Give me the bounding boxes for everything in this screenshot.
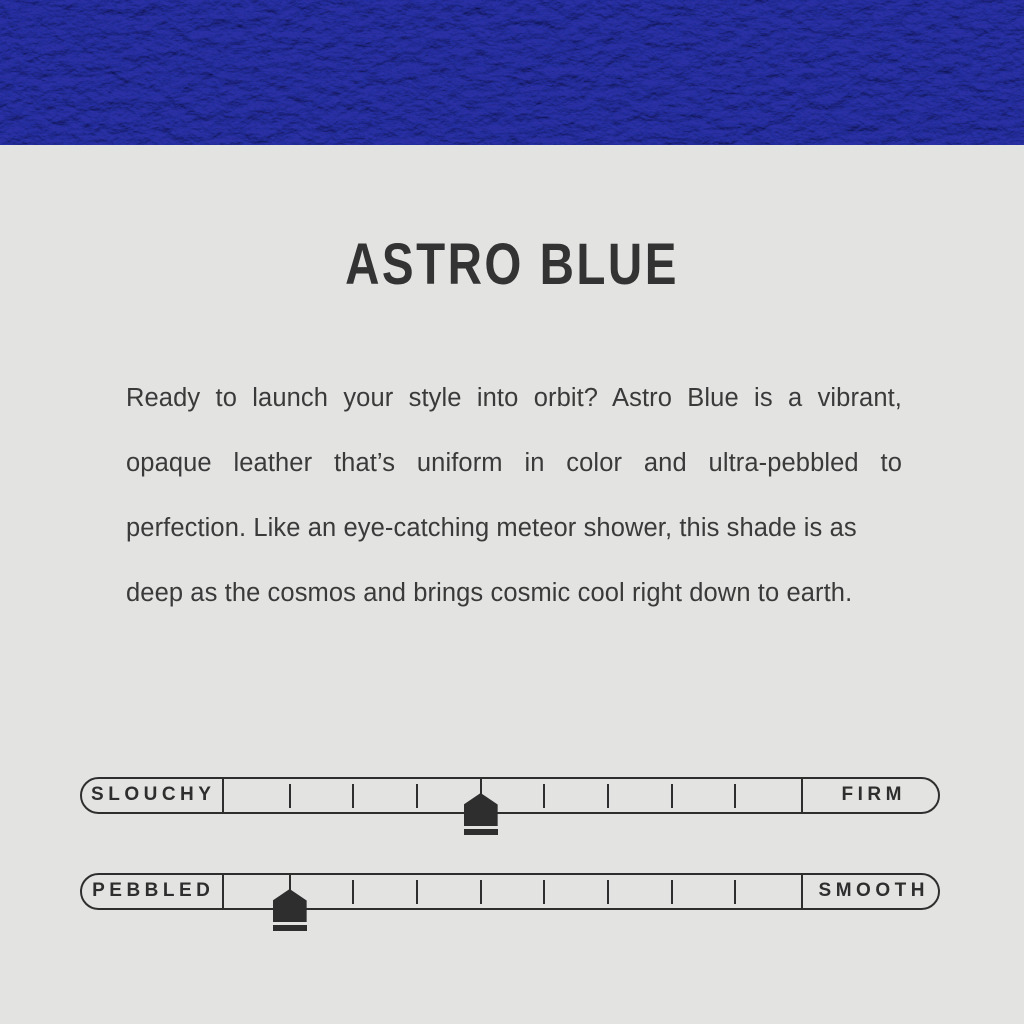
page-title: ASTRO BLUE bbox=[92, 236, 932, 294]
leather-swatch-band bbox=[0, 0, 1024, 145]
scale-tick bbox=[734, 880, 736, 904]
description-last-line: deep as the cosmos and brings cosmic coo… bbox=[126, 561, 902, 626]
scale-tick bbox=[607, 784, 609, 808]
scale-tick bbox=[416, 784, 418, 808]
scale-tick bbox=[671, 880, 673, 904]
scale-tick bbox=[289, 880, 291, 904]
scale-left-label-pebbled: PEBBLED bbox=[80, 873, 224, 910]
scale-tick bbox=[352, 880, 354, 904]
scale-tick bbox=[289, 784, 291, 808]
marker-base bbox=[464, 829, 498, 835]
marker-base bbox=[273, 925, 307, 931]
scale-firmness[interactable]: SLOUCHY FIRM bbox=[80, 777, 940, 814]
scale-left-label-slouchy: SLOUCHY bbox=[80, 777, 224, 814]
scale-tick bbox=[671, 784, 673, 808]
scale-tick bbox=[543, 880, 545, 904]
scale-tick bbox=[416, 880, 418, 904]
scale-right-label-firm: FIRM bbox=[801, 777, 940, 814]
scale-right-label-smooth: SMOOTH bbox=[801, 873, 940, 910]
scale-tick bbox=[543, 784, 545, 808]
scale-tick bbox=[607, 880, 609, 904]
scale-tick bbox=[480, 880, 482, 904]
description-body: Ready to launch your style into orbit? A… bbox=[126, 384, 902, 542]
product-description: Ready to launch your style into orbit? A… bbox=[126, 366, 902, 626]
scale-texture[interactable]: PEBBLED SMOOTH bbox=[80, 873, 940, 910]
scale-ticks bbox=[226, 873, 799, 910]
scale-tick bbox=[734, 784, 736, 808]
scale-tick bbox=[480, 784, 482, 808]
scale-ticks bbox=[226, 777, 799, 814]
leather-texture-graphic bbox=[0, 0, 1024, 145]
scale-tick bbox=[352, 784, 354, 808]
